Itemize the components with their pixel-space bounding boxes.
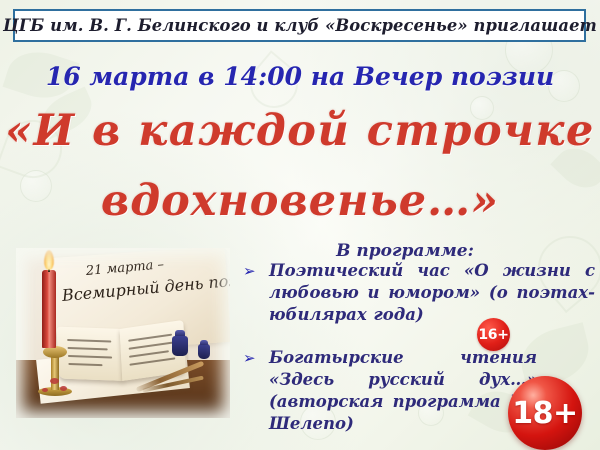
header-title: ЦГБ им. В. Г. Белинского и клуб «Воскрес… — [3, 16, 597, 35]
age-rating-16-label: 16+ — [478, 327, 508, 343]
age-rating-18-badge: 18+ — [508, 376, 582, 450]
candle-flame — [44, 250, 54, 270]
rose-petal — [60, 386, 67, 391]
programme-item-text: Поэтический час «О жизни с любовью и юмо… — [269, 260, 595, 326]
age-rating-16-badge: 16+ — [477, 318, 510, 351]
poster-title-line1: «И в каждой строчке — [0, 106, 600, 156]
event-date-line: 16 марта в 14:00 на Вечер поэзии — [0, 62, 600, 91]
list-item: ➢ Поэтический час «О жизни с любовью и ю… — [243, 260, 595, 326]
inkwell-large — [172, 336, 188, 356]
age-rating-18-label: 18+ — [512, 396, 577, 431]
poetry-evening-poster: ЦГБ им. В. Г. Белинского и клуб «Воскрес… — [0, 0, 600, 450]
programme-item-text: Богатырские чтения «Здесь русский дух…» … — [269, 347, 537, 435]
poster-title-line2: вдохновенье…» — [0, 176, 600, 226]
chevron-bullet-icon: ➢ — [243, 347, 269, 366]
rose-petal — [50, 378, 59, 384]
inkwell-large-cap — [175, 330, 185, 336]
poetry-day-illustration: 21 марта – Всемирный день поэзии — [16, 248, 230, 418]
programme-heading: В программе: — [300, 241, 510, 261]
rose-petal — [42, 388, 48, 392]
inkwell-small-cap — [200, 340, 208, 345]
chevron-bullet-icon: ➢ — [243, 260, 269, 279]
inkwell-small — [198, 344, 210, 359]
header-banner: ЦГБ им. В. Г. Белинского и клуб «Воскрес… — [13, 9, 586, 42]
red-candle — [42, 270, 56, 348]
